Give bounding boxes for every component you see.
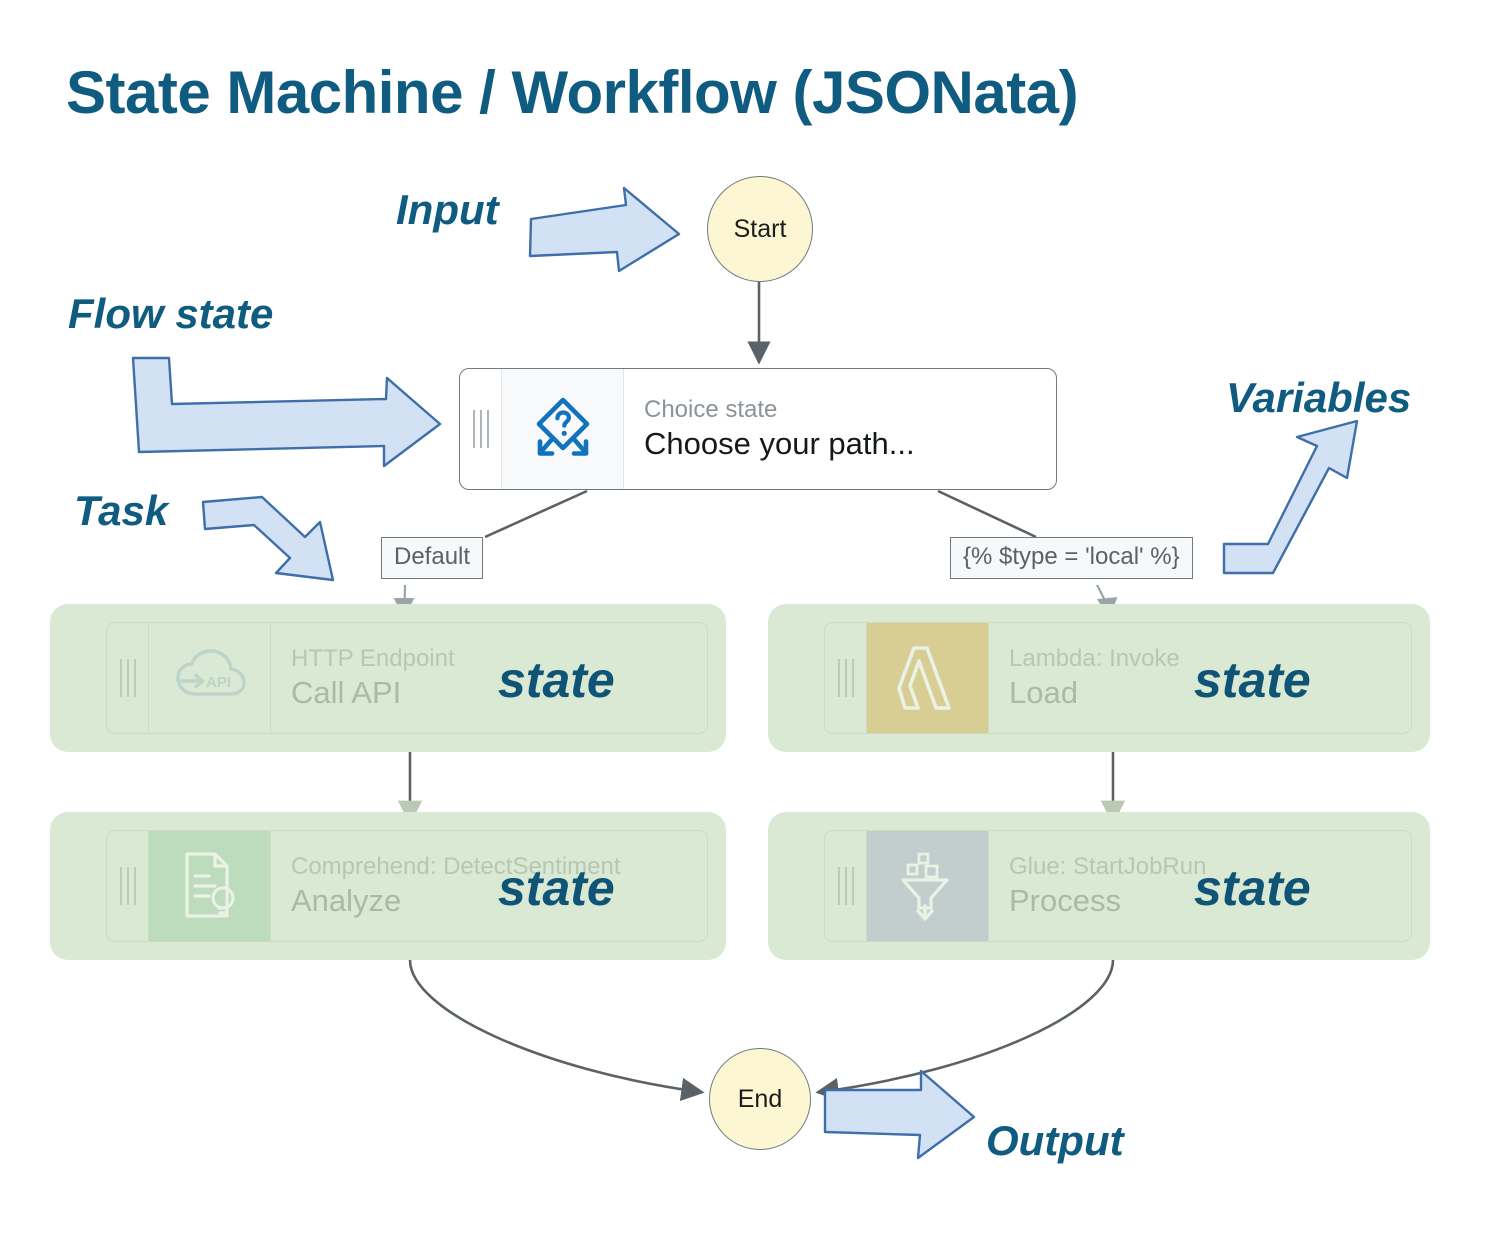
comprehend-document-bulb-icon <box>149 831 271 941</box>
choice-state-text: Choice state Choose your path... <box>624 369 1056 489</box>
start-node-label: Start <box>734 215 787 244</box>
drag-handle-icon[interactable] <box>107 623 149 733</box>
end-node-label: End <box>738 1085 782 1114</box>
task-highlight-load: Lambda: Invoke Load <box>768 604 1430 752</box>
edge-label-expression[interactable]: {% $type = 'local' %} <box>950 537 1193 579</box>
task-card-analyze[interactable]: Comprehend: DetectSentiment Analyze <box>106 830 708 942</box>
workflow-diagram: State Machine / Workflow (JSONata) Start… <box>0 0 1486 1238</box>
end-node[interactable]: End <box>709 1048 811 1150</box>
edge-choice-to-expr-label <box>938 491 1036 537</box>
drag-handle-icon[interactable] <box>825 623 867 733</box>
page-title: State Machine / Workflow (JSONata) <box>66 58 1078 127</box>
block-arrow-right-icon-input <box>530 188 679 271</box>
drag-handle-icon[interactable] <box>825 831 867 941</box>
choice-state-card[interactable]: Choice state Choose your path... <box>459 368 1057 490</box>
edge-label-default[interactable]: Default <box>381 537 483 579</box>
task-text-analyze: Comprehend: DetectSentiment Analyze <box>271 831 707 941</box>
choice-diamond-question-icon <box>502 369 624 489</box>
task-highlight-analyze: Comprehend: DetectSentiment Analyze <box>50 812 726 960</box>
drag-handle-icon[interactable] <box>460 369 502 489</box>
aws-lambda-icon <box>867 623 989 733</box>
state-overlay-load: state <box>1194 651 1311 709</box>
state-overlay-process: state <box>1194 859 1311 917</box>
block-arrow-bent-right-icon-flow-state <box>133 358 440 466</box>
state-overlay-call-api: state <box>498 651 615 709</box>
annotation-label-input: Input <box>396 186 499 234</box>
annotation-label-output: Output <box>986 1117 1124 1165</box>
http-endpoint-cloud-api-icon: API <box>149 623 271 733</box>
task-card-call-api[interactable]: API HTTP Endpoint Call API <box>106 622 708 734</box>
task-text-call-api: HTTP Endpoint Call API <box>271 623 707 733</box>
task-highlight-call-api: API HTTP Endpoint Call API <box>50 604 726 752</box>
glue-funnel-icon <box>867 831 989 941</box>
choice-state-title: Choose your path... <box>644 426 1056 462</box>
annotation-label-variables: Variables <box>1226 374 1411 422</box>
block-arrow-bent-down-right-icon-task <box>203 497 333 580</box>
annotation-label-flow-state: Flow state <box>68 290 273 338</box>
svg-text:API: API <box>206 674 231 691</box>
task-card-load[interactable]: Lambda: Invoke Load <box>824 622 1412 734</box>
edge-process-to-end <box>820 960 1113 1092</box>
start-node[interactable]: Start <box>707 176 813 282</box>
edge-analyze-to-end <box>410 960 700 1092</box>
annotation-label-task: Task <box>74 487 168 535</box>
edge-choice-to-default-label <box>485 491 587 537</box>
task-card-process[interactable]: Glue: StartJobRun Process <box>824 830 1412 942</box>
block-arrow-right-icon-output <box>825 1071 974 1158</box>
choice-state-subtitle: Choice state <box>644 396 1056 424</box>
drag-handle-icon[interactable] <box>107 831 149 941</box>
task-highlight-process: Glue: StartJobRun Process <box>768 812 1430 960</box>
state-overlay-analyze: state <box>498 859 615 917</box>
block-arrow-bent-up-right-icon-variables <box>1224 421 1357 573</box>
